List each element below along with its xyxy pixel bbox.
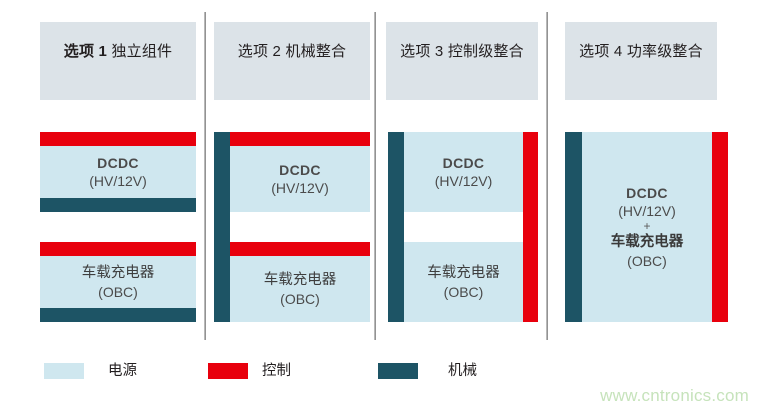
legend-label-power: 电源	[108, 363, 137, 379]
mechanical-bar-left-shared	[565, 132, 582, 322]
column-3-block-dcdc: DCDC (HV/12V)	[404, 132, 523, 212]
block-title: 车载充电器	[427, 264, 500, 283]
control-bar-top	[40, 242, 196, 256]
column-1-header: 选项 1 独立组件	[40, 22, 196, 100]
column-3-header: 选项 3 控制级整合	[386, 22, 538, 100]
block-subtitle: (OBC)	[444, 283, 484, 301]
control-bar-right-shared	[523, 132, 538, 322]
column-4-description-label: 功率级整合	[627, 43, 703, 60]
block-connector: +	[643, 220, 650, 233]
column-2-block-obc: 车载充电器 (OBC)	[230, 242, 370, 322]
column-4-block-merged: DCDC (HV/12V) + 车载充电器 (OBC)	[582, 132, 712, 322]
power-body: 车载充电器 (OBC)	[230, 256, 370, 322]
power-body: DCDC (HV/12V)	[230, 146, 370, 212]
block-subtitle: (HV/12V)	[618, 202, 676, 220]
mechanical-bar-left-shared	[388, 132, 404, 322]
column-1-header-text: 选项 1 独立组件	[64, 39, 173, 64]
block-title: DCDC	[443, 155, 485, 172]
power-swatch	[44, 363, 84, 379]
block-title: 车载充电器	[264, 271, 337, 290]
power-body: 车载充电器 (OBC)	[40, 256, 196, 308]
control-bar-top	[40, 132, 196, 146]
block-subtitle: (OBC)	[98, 283, 138, 301]
control-bar-top	[230, 132, 370, 146]
mechanical-bar-left-shared	[214, 132, 230, 322]
mechanical-bar-bottom	[40, 308, 196, 322]
column-4-header: 选项 4 功率级整合	[565, 22, 717, 100]
column-divider-2	[374, 12, 376, 340]
watermark-text: www.cntronics.com	[600, 386, 749, 406]
block-subtitle: (HV/12V)	[435, 172, 493, 190]
block-title-secondary: 车载充电器	[611, 233, 684, 252]
block-subtitle-secondary: (OBC)	[627, 252, 667, 270]
column-2-diagram-group: DCDC (HV/12V) 车载充电器 (OBC)	[214, 132, 370, 322]
control-swatch	[208, 363, 248, 379]
control-bar-right-shared	[712, 132, 728, 322]
column-1-block-dcdc: DCDC (HV/12V)	[40, 132, 196, 212]
column-2-header-text: 选项 2 机械整合	[238, 39, 347, 64]
block-subtitle: (HV/12V)	[89, 172, 147, 190]
mechanical-swatch	[378, 363, 418, 379]
block-title: DCDC	[97, 155, 139, 172]
block-title: DCDC	[626, 185, 668, 202]
column-3-header-text: 选项 3 控制级整合	[400, 39, 524, 64]
column-3-description-label: 控制级整合	[448, 43, 524, 60]
diagram-canvas: 选项 1 独立组件 DCDC (HV/12V) 车载充电器 (OBC) 选项 2…	[0, 0, 757, 412]
column-4-option-label: 选项 4	[579, 43, 622, 60]
column-2-header: 选项 2 机械整合	[214, 22, 370, 100]
column-3-diagram-group: DCDC (HV/12V) 车载充电器 (OBC)	[388, 132, 538, 322]
column-4-diagram-group: DCDC (HV/12V) + 车载充电器 (OBC)	[565, 132, 728, 322]
column-2-option-label: 选项 2	[238, 43, 281, 60]
column-1-option-label: 选项 1	[64, 43, 107, 60]
column-3-block-obc: 车载充电器 (OBC)	[404, 242, 523, 322]
block-title: 车载充电器	[82, 264, 155, 283]
legend-label-mechanical: 机械	[448, 363, 477, 379]
control-bar-top	[230, 242, 370, 256]
column-4-header-text: 选项 4 功率级整合	[579, 39, 703, 64]
column-divider-1	[204, 12, 206, 340]
block-subtitle: (HV/12V)	[271, 179, 329, 197]
legend-label-control: 控制	[262, 363, 291, 379]
column-1-block-obc: 车载充电器 (OBC)	[40, 242, 196, 322]
column-2-description-label: 机械整合	[285, 43, 346, 60]
block-title: DCDC	[279, 162, 321, 179]
power-body: DCDC (HV/12V)	[40, 146, 196, 198]
mechanical-bar-bottom	[40, 198, 196, 212]
column-3-option-label: 选项 3	[400, 43, 443, 60]
column-1-description-label: 独立组件	[111, 43, 172, 60]
block-subtitle: (OBC)	[280, 290, 320, 308]
column-divider-3	[546, 12, 548, 340]
column-2-block-dcdc: DCDC (HV/12V)	[230, 132, 370, 212]
